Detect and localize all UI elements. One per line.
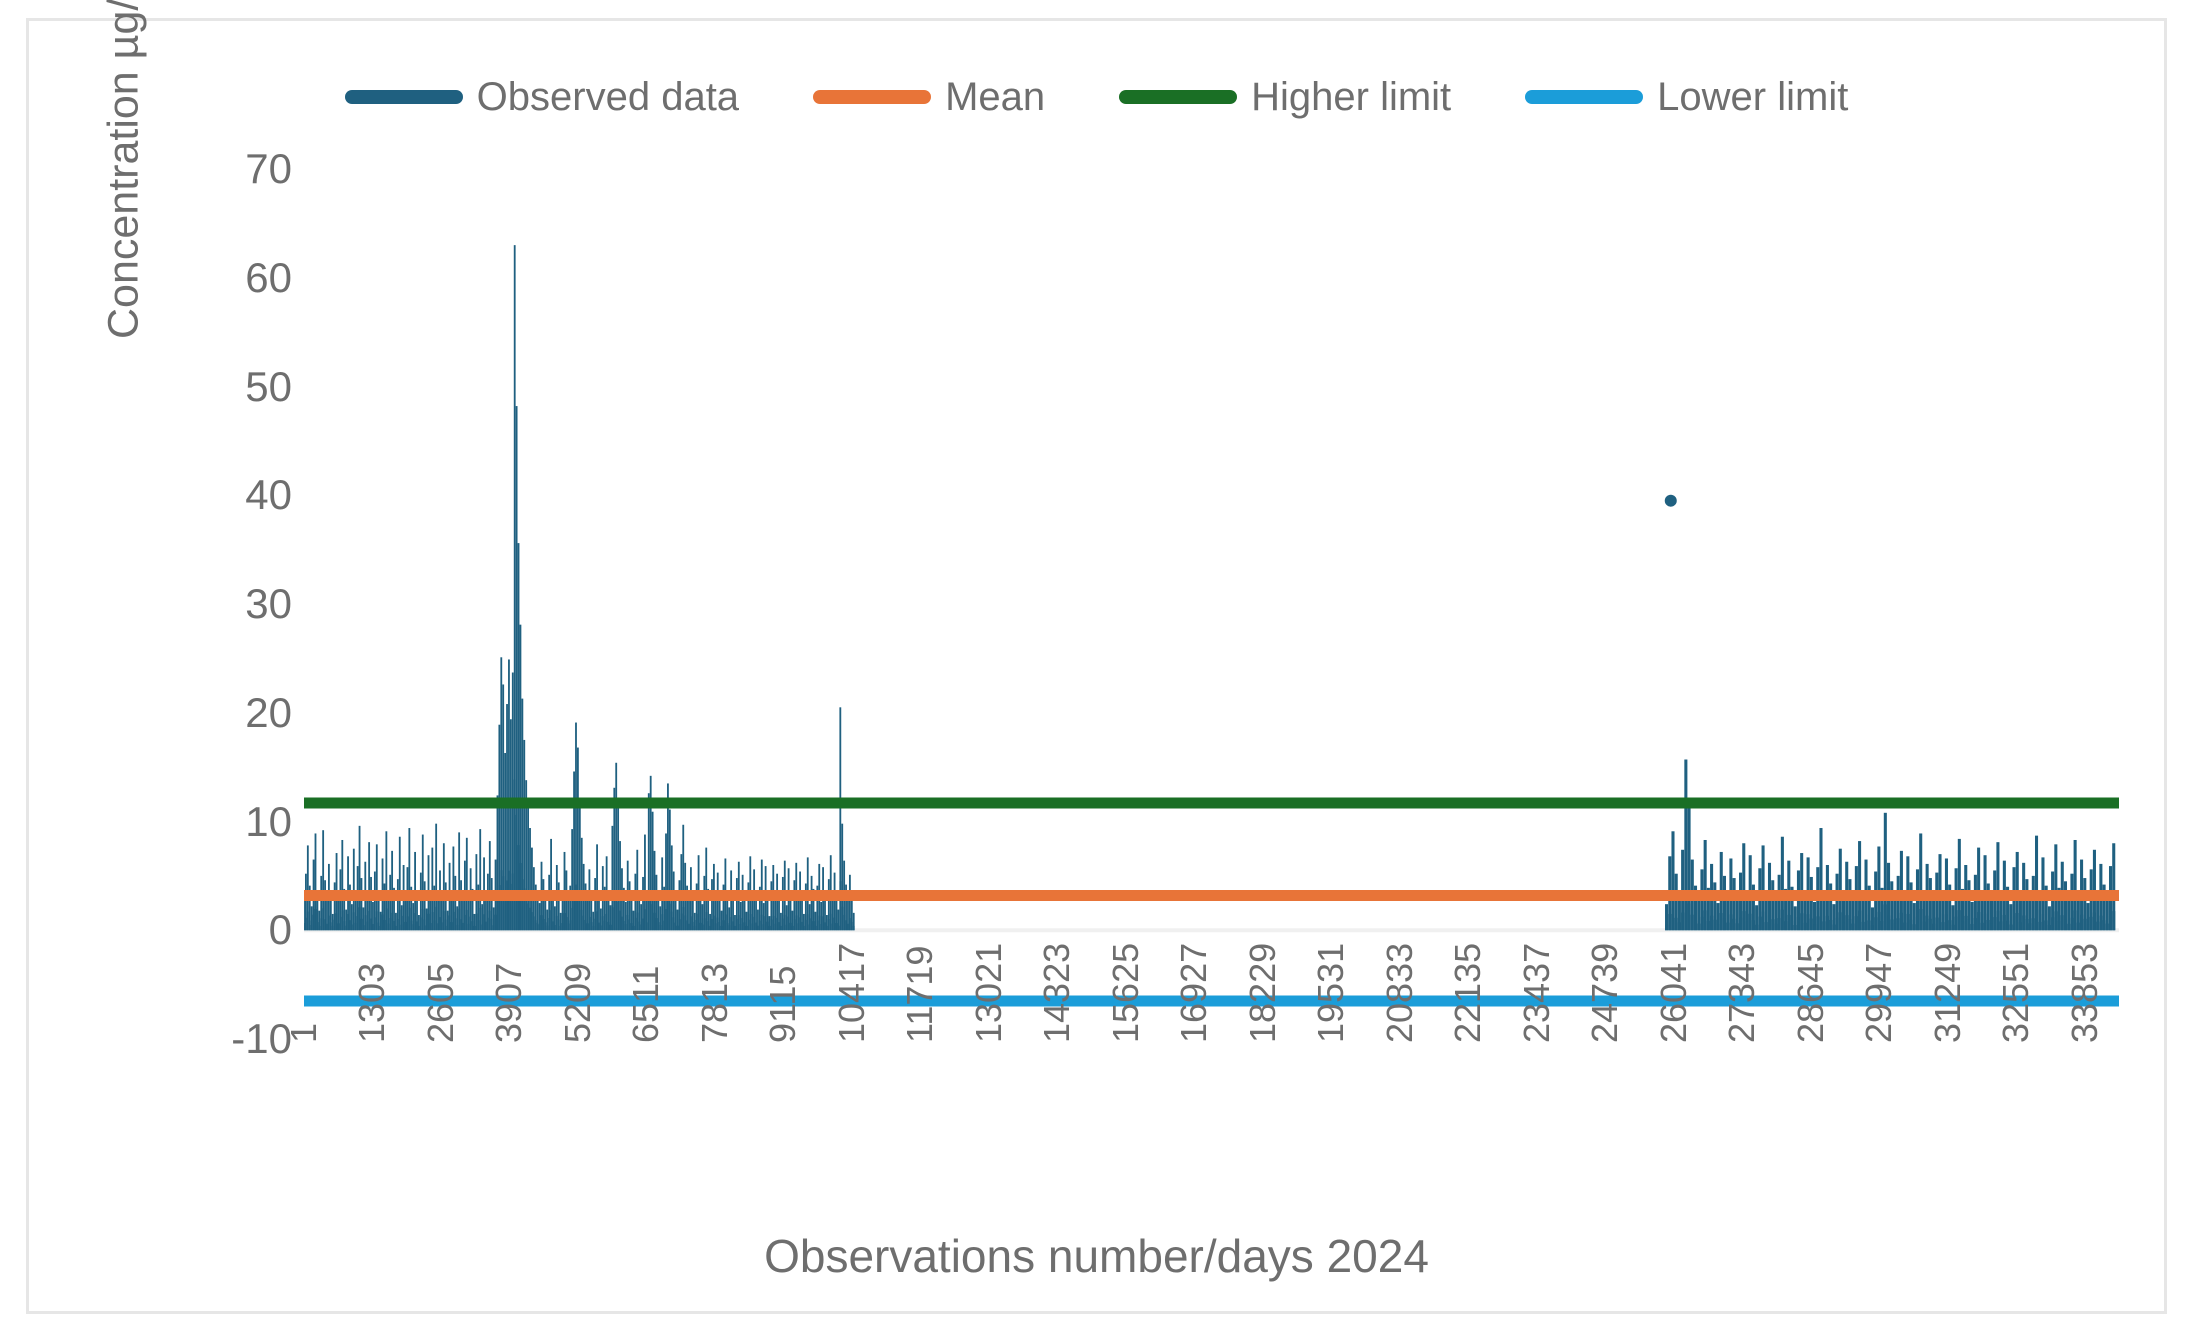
legend-item-lower-limit[interactable]: Lower limit [1525,77,1848,117]
x-axis-tick: 28645 [1793,943,1829,1043]
y-axis-tick: 70 [245,145,292,193]
x-axis-tick: 23437 [1519,943,1555,1043]
x-axis-tick: 14323 [1039,943,1075,1043]
legend-swatch-higher-limit [1119,90,1237,104]
x-axis-tick: 24739 [1587,943,1623,1043]
x-axis-tick: 31249 [1930,943,1966,1043]
legend-item-higher-limit[interactable]: Higher limit [1119,77,1451,117]
y-axis-tick-labels: 706050403020100-10 [174,169,292,1039]
legend-label-observed-data: Observed data [477,77,739,117]
x-axis-tick: 29947 [1861,943,1897,1043]
x-axis-tick: 19531 [1313,943,1349,1043]
x-axis-tick: 2605 [423,963,459,1043]
x-axis-tick: 32551 [1998,943,2034,1043]
legend-label-higher-limit: Higher limit [1251,77,1451,117]
x-axis-tick: 7813 [697,963,733,1043]
plot-area [304,169,2119,1039]
y-axis-tick: 0 [269,906,292,954]
legend-swatch-observed-data [345,90,463,104]
chart-page: Observed data Mean Higher limit Lower li… [0,0,2193,1332]
y-axis-tick: 50 [245,363,292,411]
y-axis-tick: 10 [245,798,292,846]
x-axis-tick: 13021 [971,943,1007,1043]
legend-item-mean[interactable]: Mean [813,77,1045,117]
legend-label-lower-limit: Lower limit [1657,77,1848,117]
y-axis-tick: 60 [245,254,292,302]
series-observed-data [304,245,2115,930]
x-axis-tick: 11719 [902,946,938,1043]
x-axis-tick: 9115 [765,966,801,1043]
x-axis-tick: 6511 [628,966,664,1043]
x-axis-tick: 18229 [1245,943,1281,1043]
x-axis-tick: 3907 [491,963,527,1043]
legend-label-mean: Mean [945,77,1045,117]
y-axis-tick: 40 [245,471,292,519]
chart-frame: Observed data Mean Higher limit Lower li… [26,18,2167,1314]
x-axis-tick: 22135 [1450,943,1486,1043]
x-axis-tick: 20833 [1382,943,1418,1043]
y-axis-tick: 30 [245,580,292,628]
outlier-point [1665,495,1677,507]
legend-swatch-mean [813,90,931,104]
x-axis-tick: 27343 [1724,943,1760,1043]
y-axis-tick: 20 [245,689,292,737]
x-axis-tick: 33853 [2067,943,2103,1043]
x-axis-tick: 15625 [1108,943,1144,1043]
x-axis-tick: 5209 [560,963,596,1043]
x-axis-tick: 16927 [1176,943,1212,1043]
y-axis-title: Concentration µg/m3 [97,0,148,339]
x-axis-tick: 1303 [354,963,390,1043]
x-axis-tick: 10417 [834,943,870,1043]
legend-swatch-lower-limit [1525,90,1643,104]
plot-svg [304,169,2119,1039]
chart-legend: Observed data Mean Higher limit Lower li… [29,77,2164,117]
y-axis-title-text: Concentration µg/m [99,0,147,339]
x-axis-title: Observations number/days 2024 [29,1229,2164,1283]
x-axis-tick-labels: 1130326053907520965117813911510417117191… [304,1043,2119,1213]
x-axis-tick: 26041 [1656,943,1692,1043]
legend-item-observed-data[interactable]: Observed data [345,77,739,117]
x-axis-tick: 1 [286,1023,322,1043]
